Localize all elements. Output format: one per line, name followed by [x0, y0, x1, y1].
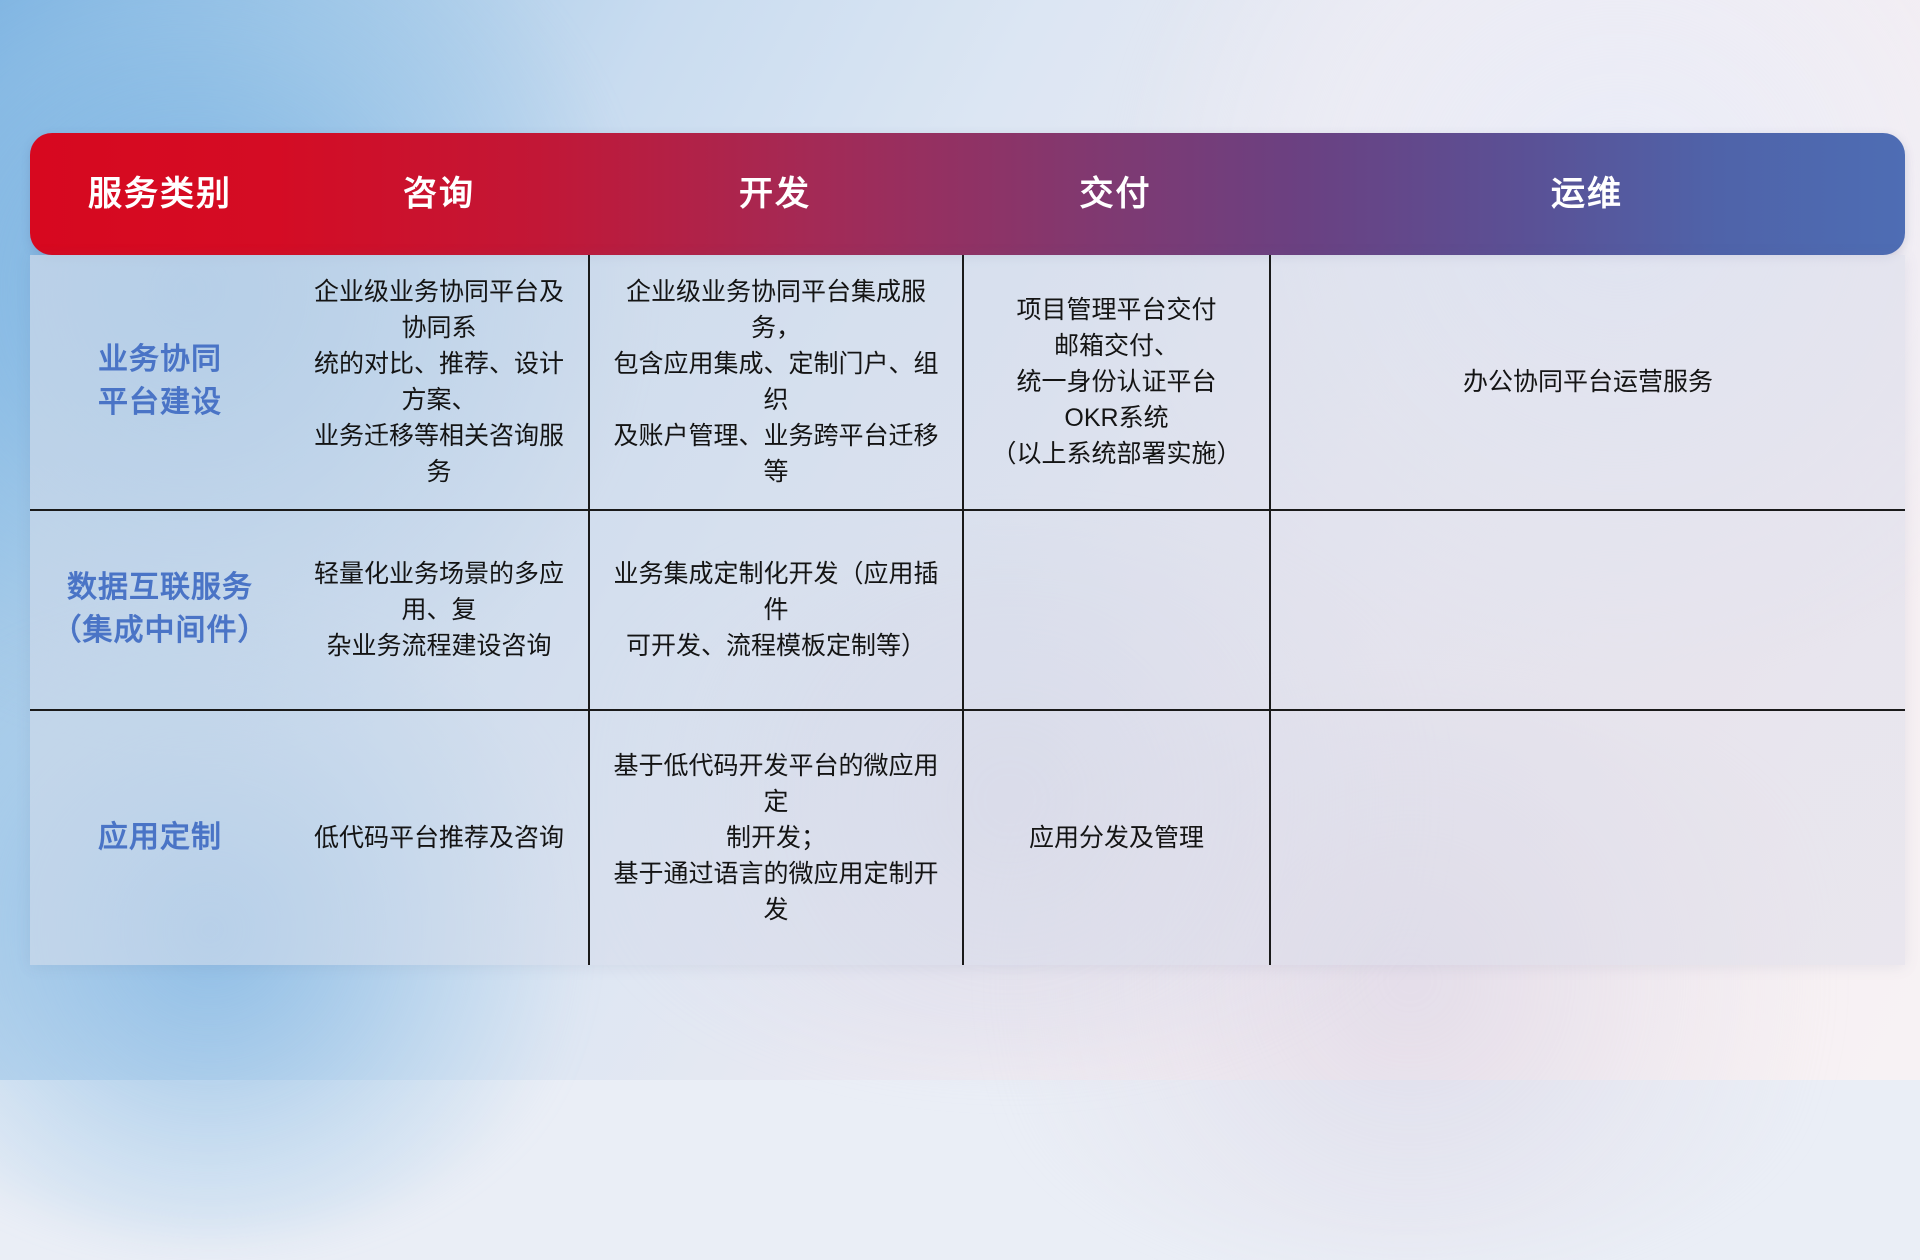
cell-operations [1269, 711, 1905, 965]
column-header-operations: 运维 [1269, 177, 1905, 211]
cell-text: 办公协同平台运营服务 [1463, 364, 1713, 400]
service-matrix-table: 服务类别 咨询 开发 交付 运维 业务协同 平台建设 企业级业务协同平台及协同系… [30, 133, 1905, 963]
table-body: 业务协同 平台建设 企业级业务协同平台及协同系 统的对比、推荐、设计方案、 业务… [30, 255, 1905, 965]
cell-delivery: 项目管理平台交付 邮箱交付、 统一身份认证平台 OKR系统 （以上系统部署实施） [962, 255, 1269, 509]
cell-consulting: 企业级业务协同平台及协同系 统的对比、推荐、设计方案、 业务迁移等相关咨询服务 [290, 255, 588, 509]
table-row: 数据互联服务 （集成中间件） 轻量化业务场景的多应用、复 杂业务流程建设咨询 业… [30, 509, 1905, 709]
cell-operations [1269, 511, 1905, 709]
column-header-service-category: 服务类别 [30, 177, 290, 211]
category-label: 数据互联服务 （集成中间件） [52, 567, 269, 652]
table-row: 应用定制 低代码平台推荐及咨询 基于低代码开发平台的微应用定 制开发； 基于通过… [30, 709, 1905, 965]
cell-delivery [962, 511, 1269, 709]
column-header-consulting: 咨询 [290, 177, 588, 211]
table-row: 业务协同 平台建设 企业级业务协同平台及协同系 统的对比、推荐、设计方案、 业务… [30, 255, 1905, 509]
cell-text: 低代码平台推荐及咨询 [314, 820, 564, 856]
table-header-row: 服务类别 咨询 开发 交付 运维 [30, 133, 1905, 255]
category-label: 业务协同 平台建设 [98, 339, 222, 424]
category-label: 应用定制 [98, 817, 222, 860]
cell-development: 基于低代码开发平台的微应用定 制开发； 基于通过语言的微应用定制开发 [588, 711, 962, 965]
cell-development: 业务集成定制化开发（应用插件 可开发、流程模板定制等） [588, 511, 962, 709]
cell-text: 项目管理平台交付 邮箱交付、 统一身份认证平台 OKR系统 （以上系统部署实施） [991, 292, 1241, 472]
cell-consulting: 低代码平台推荐及咨询 [290, 711, 588, 965]
cell-text: 基于低代码开发平台的微应用定 制开发； 基于通过语言的微应用定制开发 [606, 748, 946, 928]
column-header-delivery: 交付 [962, 177, 1269, 211]
row-category-cell: 业务协同 平台建设 [30, 255, 290, 509]
cell-operations: 办公协同平台运营服务 [1269, 255, 1905, 509]
cell-text: 业务集成定制化开发（应用插件 可开发、流程模板定制等） [606, 556, 946, 664]
row-category-cell: 数据互联服务 （集成中间件） [30, 511, 290, 709]
cell-development: 企业级业务协同平台集成服务， 包含应用集成、定制门户、组织 及账户管理、业务跨平… [588, 255, 962, 509]
column-header-development: 开发 [588, 177, 962, 211]
row-category-cell: 应用定制 [30, 711, 290, 965]
cell-text: 企业级业务协同平台及协同系 统的对比、推荐、设计方案、 业务迁移等相关咨询服务 [306, 274, 572, 490]
cell-consulting: 轻量化业务场景的多应用、复 杂业务流程建设咨询 [290, 511, 588, 709]
cell-text: 轻量化业务场景的多应用、复 杂业务流程建设咨询 [306, 556, 572, 664]
cell-text: 企业级业务协同平台集成服务， 包含应用集成、定制门户、组织 及账户管理、业务跨平… [606, 274, 946, 490]
cell-text: 应用分发及管理 [1029, 820, 1204, 856]
cell-delivery: 应用分发及管理 [962, 711, 1269, 965]
